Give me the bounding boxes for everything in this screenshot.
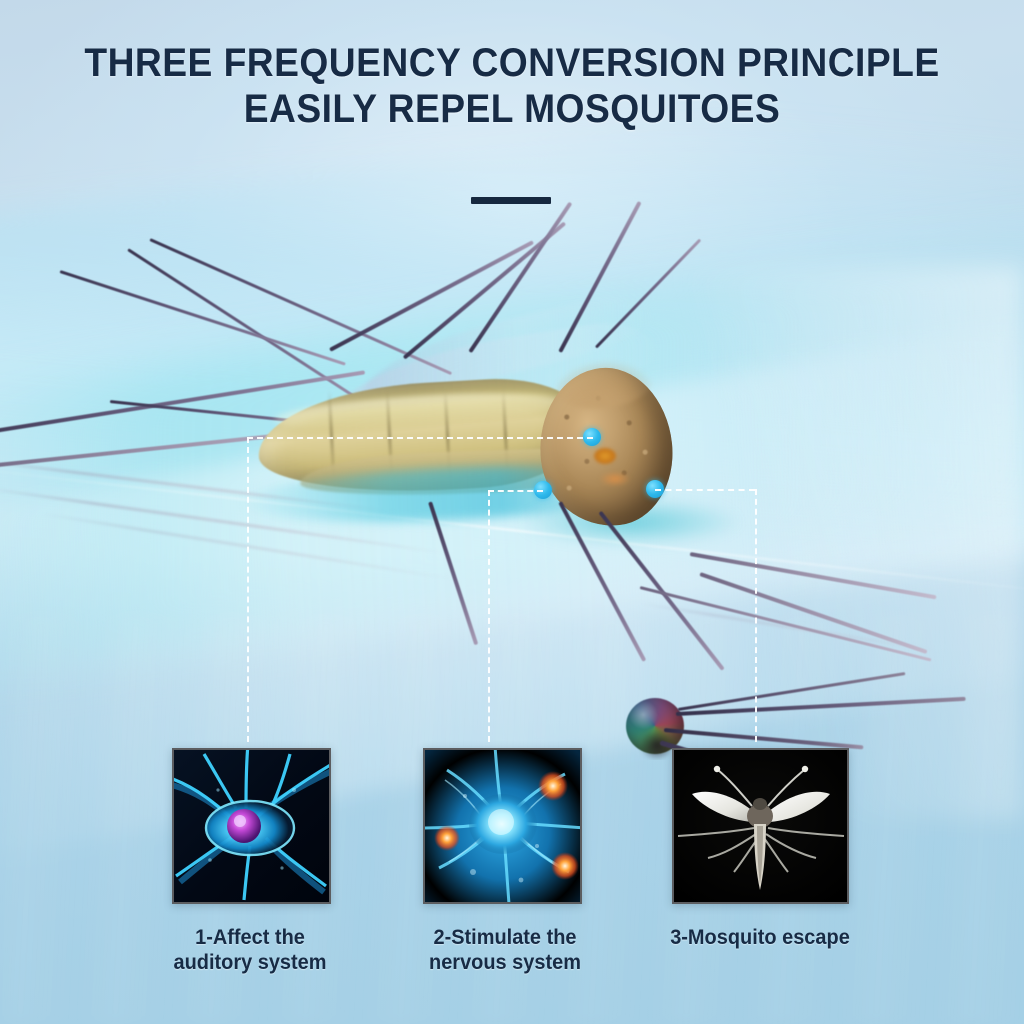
caption-step-1-line-2: auditory system xyxy=(146,950,355,975)
leader-line-2-horizontal xyxy=(488,490,543,492)
title-line-1: THREE FREQUENCY CONVERSION PRINCIPLE xyxy=(36,40,988,86)
caption-step-2-line-2: nervous system xyxy=(401,950,610,975)
leader-line-1-horizontal xyxy=(247,437,593,439)
caption-step-2: 2-Stimulate the nervous system xyxy=(401,925,610,975)
leader-line-3-vertical xyxy=(755,489,757,742)
leader-line-1-vertical xyxy=(247,437,249,742)
mosquito-antenna xyxy=(676,697,966,716)
mosquito-photo xyxy=(0,200,1024,760)
caption-step-3: 3-Mosquito escape xyxy=(641,925,879,950)
caption-step-1-line-1: 1-Affect the xyxy=(146,925,355,950)
neuron-cell-illustration xyxy=(174,750,329,902)
thumbnail-neuron-network[interactable] xyxy=(423,748,582,904)
leg-rear-lower xyxy=(690,552,937,599)
leader-line-3-horizontal xyxy=(655,489,755,491)
thorax-orange-marking xyxy=(594,448,616,464)
thorax-orange-marking-2 xyxy=(600,472,630,486)
caption-step-1: 1-Affect the auditory system xyxy=(146,925,355,975)
reflection-streak xyxy=(640,602,937,652)
leader-line-2-vertical xyxy=(488,490,490,742)
title-line-2: EASILY REPEL MOSQUITOES xyxy=(36,86,988,132)
mosquito-escape-illustration xyxy=(674,750,847,902)
neuron-network-illustration xyxy=(425,750,580,902)
leg-rear-lower-3 xyxy=(640,586,932,661)
caption-step-3-line-1: 3-Mosquito escape xyxy=(641,925,879,950)
thumbnail-neuron-cell[interactable] xyxy=(172,748,331,904)
leg-rear-lower-2 xyxy=(699,572,927,654)
thumbnail-mosquito-flying[interactable] xyxy=(672,748,849,904)
caption-step-2-line-1: 2-Stimulate the xyxy=(401,925,610,950)
infographic-canvas: THREE FREQUENCY CONVERSION PRINCIPLE EAS… xyxy=(0,0,1024,1024)
page-title: THREE FREQUENCY CONVERSION PRINCIPLE EAS… xyxy=(0,40,1024,132)
leg-rear-upper-3 xyxy=(60,270,346,366)
mosquito-palp xyxy=(664,728,864,749)
